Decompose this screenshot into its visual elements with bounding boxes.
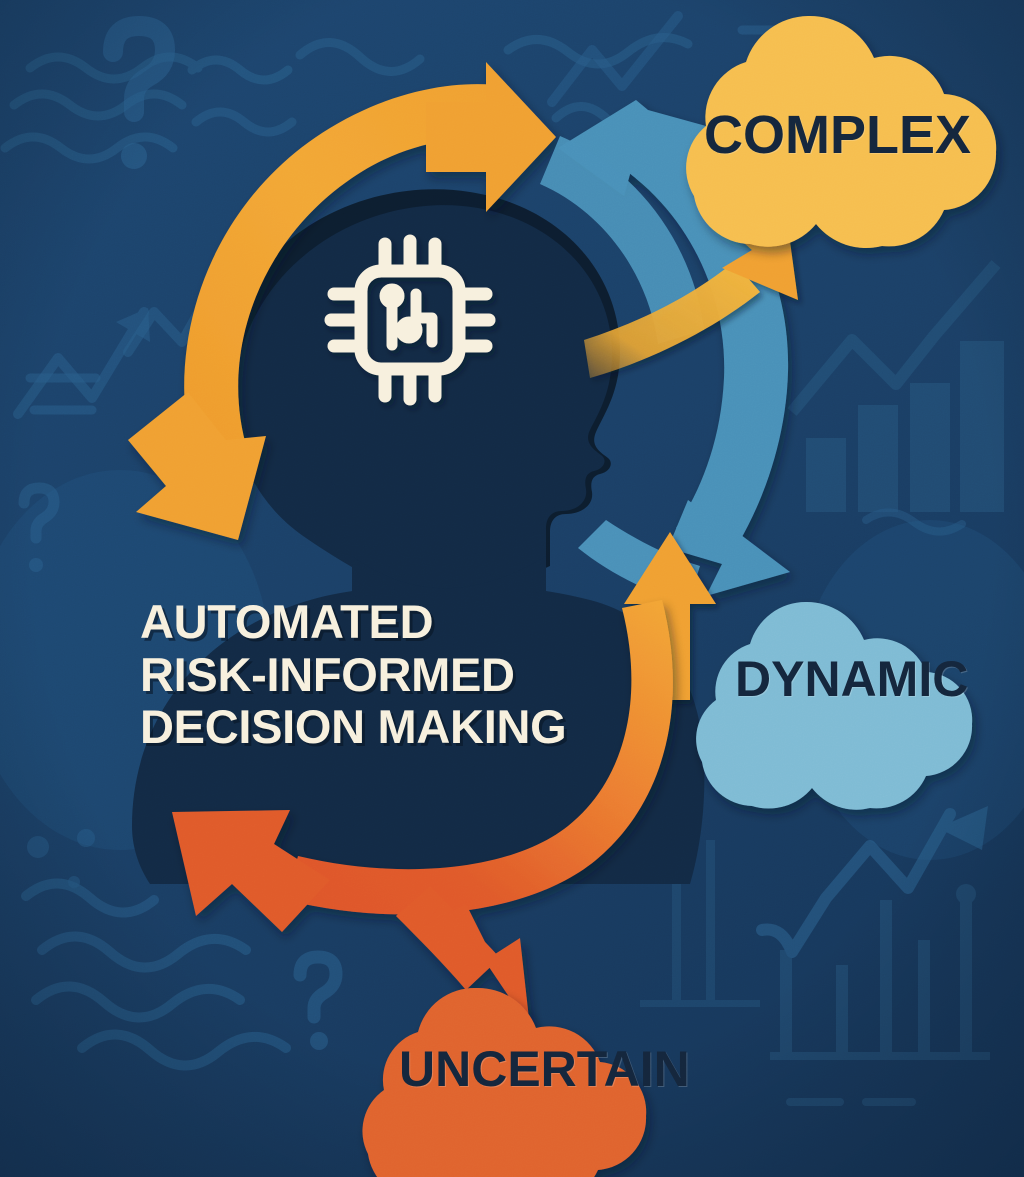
headline-line-3: DECISION MAKING: [140, 701, 590, 754]
cloud-label-uncertain: UNCERTAIN: [399, 1040, 690, 1098]
page-title: AUTOMATED RISK-INFORMED DECISION MAKING: [140, 596, 590, 754]
cpu-chip-icon-layer: [0, 0, 1024, 1177]
headline-line-1: AUTOMATED: [140, 596, 590, 649]
headline-line-2: RISK-INFORMED: [140, 649, 590, 702]
cloud-label-complex: COMPLEX: [704, 104, 971, 166]
infographic-poster: AUTOMATED RISK-INFORMED DECISION MAKING …: [0, 0, 1024, 1177]
cpu-chip-icon: [331, 241, 489, 399]
cloud-label-dynamic: DYNAMIC: [735, 650, 968, 708]
